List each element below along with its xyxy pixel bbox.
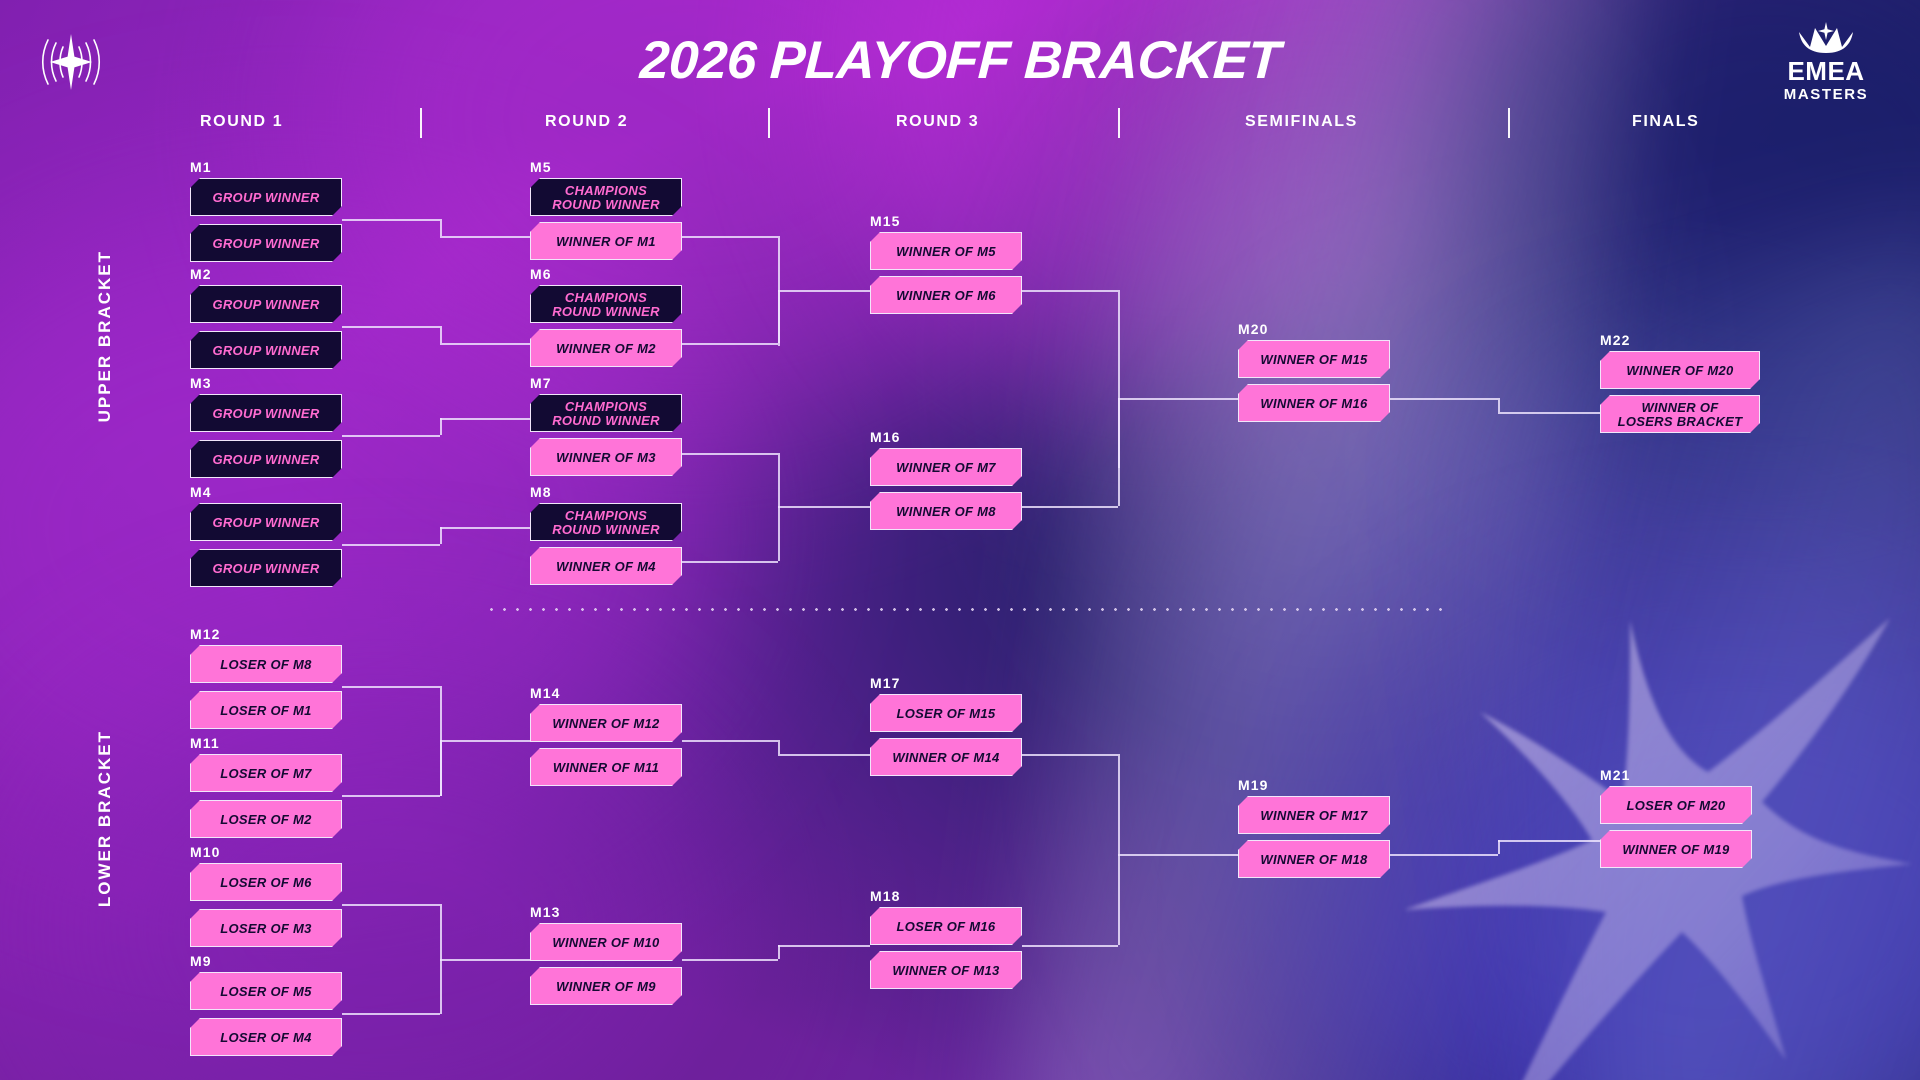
connector-line [342,904,440,906]
connector-line [440,236,532,238]
match-slot[interactable]: WINNER OF M9 [530,967,682,1005]
connector-line [440,527,532,529]
slot-line: CHAMPIONS [565,508,647,523]
connector-line [1118,854,1120,945]
match-m5: M5CHAMPIONSROUND WINNERWINNER OF M1 [530,160,682,267]
slot-line: ROUND WINNER [552,197,660,212]
match-id-label: M11 [190,736,342,750]
match-m21: M21LOSER OF M20WINNER OF M19 [1600,768,1752,875]
match-slot[interactable]: WINNER OF M3 [530,438,682,476]
bracket-divider [485,608,1445,611]
match-id-label: M19 [1238,778,1390,792]
match-m6: M6CHAMPIONSROUND WINNERWINNER OF M2 [530,267,682,374]
match-slot[interactable]: LOSER OF M1 [190,691,342,729]
match-m7: M7CHAMPIONSROUND WINNERWINNER OF M3 [530,376,682,483]
connector-line [440,527,442,544]
match-slot[interactable]: GROUP WINNER [190,549,342,587]
match-m13: M13WINNER OF M10WINNER OF M9 [530,905,682,1012]
lower-bracket-label: LOWER BRACKET [95,730,115,907]
match-slot[interactable]: WINNER OF M2 [530,329,682,367]
connector-line [440,418,442,435]
match-m15: M15WINNER OF M5WINNER OF M6 [870,214,1022,321]
match-slot[interactable]: WINNER OF M19 [1600,830,1752,868]
connector-line [342,795,440,797]
connector-line [440,326,442,343]
match-slot[interactable]: WINNER OFLOSERS BRACKET [1600,395,1760,433]
match-slot[interactable]: WINNER OF M7 [870,448,1022,486]
slot-line: CHAMPIONS [565,399,647,414]
match-slot[interactable]: LOSER OF M6 [190,863,342,901]
round-header-5: FINALS [1632,113,1699,131]
match-slot[interactable]: LOSER OF M3 [190,909,342,947]
match-slot[interactable]: LOSER OF M15 [870,694,1022,732]
match-m8: M8CHAMPIONSROUND WINNERWINNER OF M4 [530,485,682,592]
slot-line: CHAMPIONS [565,183,647,198]
round-separator-2 [768,108,770,138]
match-slot[interactable]: LOSER OF M5 [190,972,342,1010]
match-slot[interactable]: WINNER OF M18 [1238,840,1390,878]
match-m22: M22WINNER OF M20WINNER OFLOSERS BRACKET [1600,333,1760,440]
connector-line [1118,854,1238,856]
connector-line [682,561,778,563]
match-id-label: M12 [190,627,342,641]
match-m4: M4GROUP WINNERGROUP WINNER [190,485,342,594]
connector-line [682,236,778,238]
match-id-label: M1 [190,160,342,174]
connector-line [440,219,442,236]
connector-line [682,453,778,455]
match-slot[interactable]: CHAMPIONSROUND WINNER [530,285,682,323]
connector-line [1118,754,1120,854]
match-slot[interactable]: WINNER OF M20 [1600,351,1760,389]
connector-line [440,740,532,742]
match-slot[interactable]: WINNER OF M8 [870,492,1022,530]
bracket-page: EMEA MASTERS 2026 PLAYOFF BRACKET ROUND … [0,0,1920,1080]
slot-line: ROUND WINNER [552,522,660,537]
round-separator-1 [420,108,422,138]
match-id-label: M2 [190,267,342,281]
match-id-label: M9 [190,954,342,968]
match-slot[interactable]: LOSER OF M7 [190,754,342,792]
match-m16: M16WINNER OF M7WINNER OF M8 [870,430,1022,537]
match-slot[interactable]: GROUP WINNER [190,440,342,478]
match-slot[interactable]: WINNER OF M5 [870,232,1022,270]
match-slot[interactable]: GROUP WINNER [190,394,342,432]
match-slot[interactable]: GROUP WINNER [190,503,342,541]
match-slot[interactable]: WINNER OF M6 [870,276,1022,314]
match-id-label: M14 [530,686,682,700]
match-id-label: M21 [1600,768,1752,782]
connector-line [440,959,532,961]
connector-line [1022,945,1118,947]
match-slot[interactable]: WINNER OF M12 [530,704,682,742]
connector-line [778,945,870,947]
match-id-label: M16 [870,430,1022,444]
match-slot[interactable]: WINNER OF M14 [870,738,1022,776]
match-slot[interactable]: WINNER OF M17 [1238,796,1390,834]
slot-line: ROUND WINNER [552,304,660,319]
slot-line: ROUND WINNER [552,413,660,428]
match-slot[interactable]: WINNER OF M13 [870,951,1022,989]
connector-line [440,343,532,345]
round-header-2: ROUND 2 [545,113,628,131]
connector-line [778,290,780,343]
connector-line [778,740,780,754]
match-slot[interactable]: GROUP WINNER [190,178,342,216]
match-slot[interactable]: WINNER OF M10 [530,923,682,961]
match-slot[interactable]: GROUP WINNER [190,224,342,262]
match-id-label: M22 [1600,333,1760,347]
page-title: 2026 PLAYOFF BRACKET [0,30,1920,91]
round-header-1: ROUND 1 [200,113,283,131]
match-m17: M17LOSER OF M15WINNER OF M14 [870,676,1022,783]
connector-line [682,959,778,961]
round-header-4: SEMIFINALS [1245,113,1358,131]
match-slot[interactable]: WINNER OF M1 [530,222,682,260]
connector-line [1118,398,1238,400]
upper-bracket-label: UPPER BRACKET [95,250,115,422]
match-slot[interactable]: LOSER OF M20 [1600,786,1752,824]
match-m18: M18LOSER OF M16WINNER OF M13 [870,889,1022,996]
match-slot[interactable]: WINNER OF M16 [1238,384,1390,422]
match-id-label: M17 [870,676,1022,690]
match-id-label: M18 [870,889,1022,903]
match-id-label: M5 [530,160,682,174]
connector-line [778,754,870,756]
match-id-label: M6 [530,267,682,281]
match-m19: M19WINNER OF M17WINNER OF M18 [1238,778,1390,885]
slot-line: CHAMPIONS [565,290,647,305]
round-separator-3 [1118,108,1120,138]
connector-line [342,1013,440,1015]
connector-line [1498,840,1600,842]
match-m20: M20WINNER OF M15WINNER OF M16 [1238,322,1390,429]
match-slot[interactable]: GROUP WINNER [190,331,342,369]
match-m9: M9LOSER OF M5LOSER OF M4 [190,954,342,1063]
connector-line [682,343,778,345]
connector-line [778,945,780,959]
match-m1: M1GROUP WINNERGROUP WINNER [190,160,342,269]
match-slot[interactable]: LOSER OF M2 [190,800,342,838]
match-slot[interactable]: WINNER OF M15 [1238,340,1390,378]
connector-line [342,326,440,328]
connector-line [682,740,778,742]
connector-line [778,290,870,292]
match-slot[interactable]: WINNER OF M11 [530,748,682,786]
round-header-3: ROUND 3 [896,113,979,131]
match-id-label: M15 [870,214,1022,228]
connector-line [1022,290,1118,292]
match-id-label: M7 [530,376,682,390]
match-slot[interactable]: CHAMPIONSROUND WINNER [530,178,682,216]
match-slot[interactable]: LOSER OF M8 [190,645,342,683]
match-id-label: M8 [530,485,682,499]
match-m2: M2GROUP WINNERGROUP WINNER [190,267,342,376]
round-separator-4 [1508,108,1510,138]
match-slot[interactable]: GROUP WINNER [190,285,342,323]
connector-line [1390,854,1498,856]
match-m3: M3GROUP WINNERGROUP WINNER [190,376,342,485]
match-slot[interactable]: WINNER OF M4 [530,547,682,585]
match-m11: M11LOSER OF M7LOSER OF M2 [190,736,342,845]
connector-line [1022,754,1118,756]
match-id-label: M4 [190,485,342,499]
match-id-label: M13 [530,905,682,919]
connector-line [1498,412,1600,414]
match-slot[interactable]: CHAMPIONSROUND WINNER [530,394,682,432]
connector-line [1390,398,1498,400]
connector-line [342,686,440,688]
connector-line [440,740,442,796]
connector-line [1498,840,1500,854]
match-id-label: M3 [190,376,342,390]
match-m14: M14WINNER OF M12WINNER OF M11 [530,686,682,793]
connector-line [342,544,440,546]
connector-line [778,506,870,508]
match-slot[interactable]: LOSER OF M16 [870,907,1022,945]
match-slot[interactable]: LOSER OF M4 [190,1018,342,1056]
match-id-label: M20 [1238,322,1390,336]
slot-line: WINNER OF [1641,400,1718,415]
match-slot[interactable]: CHAMPIONSROUND WINNER [530,503,682,541]
match-m10: M10LOSER OF M6LOSER OF M3 [190,845,342,954]
connector-line [342,219,440,221]
match-id-label: M10 [190,845,342,859]
match-m12: M12LOSER OF M8LOSER OF M1 [190,627,342,736]
connector-line [1118,398,1120,506]
connector-line [342,435,440,437]
connector-line [440,418,532,420]
connector-line [1022,506,1118,508]
slot-line: LOSERS BRACKET [1618,414,1743,429]
connector-line [1498,398,1500,412]
